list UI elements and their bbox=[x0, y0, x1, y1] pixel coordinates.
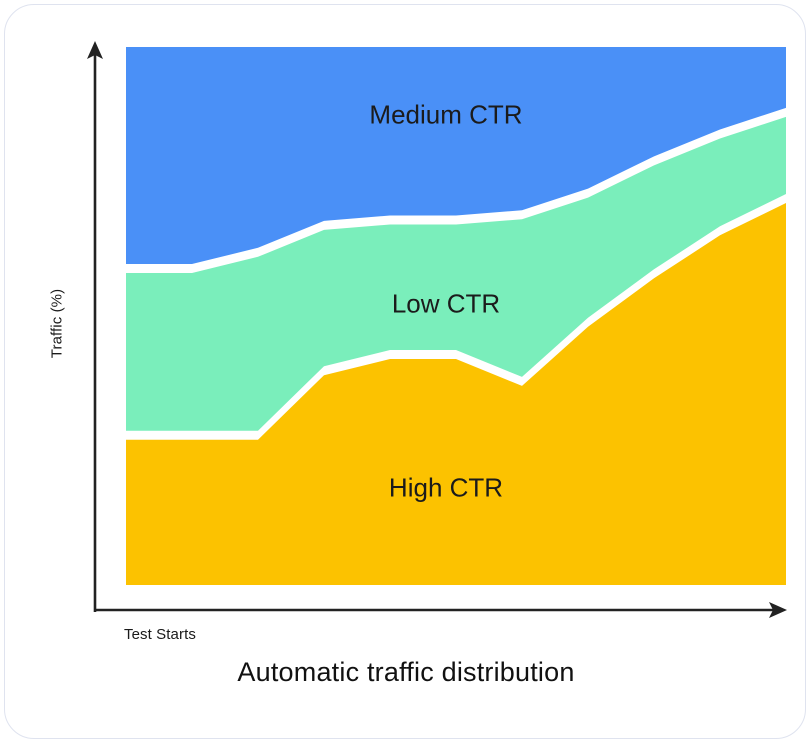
figure-caption: Automatic traffic distribution bbox=[5, 657, 806, 688]
y-axis-title: Traffic (%) bbox=[49, 264, 66, 384]
chart-card: Traffic (%) Test Starts Medium CTR Low C… bbox=[4, 4, 806, 739]
figure: Traffic (%) Test Starts Medium CTR Low C… bbox=[5, 5, 806, 739]
x-axis-title: Test Starts bbox=[124, 626, 196, 643]
area-series-group bbox=[126, 47, 786, 585]
x-axis bbox=[94, 602, 787, 618]
y-axis bbox=[87, 41, 103, 612]
